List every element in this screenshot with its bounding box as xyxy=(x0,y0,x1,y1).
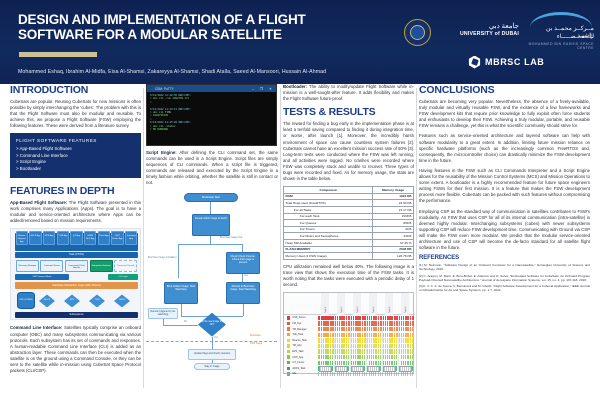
terminal-title-bar[interactable]: CSM: PuTTY – ❐ ✕ xyxy=(147,85,276,92)
chart-trace-block xyxy=(410,349,411,353)
cell-component: Heap Still Available xyxy=(284,239,373,246)
table-row: Total Heap used (FreeRTOS)22.50 KB xyxy=(284,200,414,207)
column-divider-2 xyxy=(280,88,281,388)
chart-trace-block xyxy=(337,355,338,359)
tests-paragraph-1: The reward for finding a bug early in th… xyxy=(283,121,414,182)
tests-results-heading: TESTS & RESULTS xyxy=(283,106,414,118)
flow-connector xyxy=(210,236,211,244)
chart-trace-block xyxy=(357,355,358,359)
chart-trace-block xyxy=(394,349,395,353)
services-row: Telemetry ManagerCommand ParserCommand &… xyxy=(15,260,138,272)
chart-trace-block xyxy=(337,349,338,353)
chart-trace-block xyxy=(394,333,396,337)
chart-trace-block xyxy=(391,349,392,353)
legend-label: Idle xyxy=(292,372,296,375)
cell-memory-usage: 21.17 KB xyxy=(373,207,414,214)
conclusions-heading: CONCLUSIONS xyxy=(419,84,590,96)
chart-trace-block xyxy=(343,338,344,342)
chart-trace-block xyxy=(407,338,408,342)
chart-trace-block xyxy=(378,333,379,337)
chart-trace-block xyxy=(385,349,386,353)
mbrsc-lab-logo: MBRSC LAB xyxy=(468,54,546,70)
chart-trace-block xyxy=(410,327,411,331)
chart-column-label: Task 4 xyxy=(373,307,375,313)
references-section: REFERENCES [1] M. Neimann, "Software Des… xyxy=(419,255,590,292)
tests-paragraph-2: CPU utilization remained well below 40%.… xyxy=(283,264,414,288)
legend-swatch xyxy=(287,339,290,342)
table-row: For all Tasks21.17 KB xyxy=(284,207,414,214)
flow-connector xyxy=(163,325,198,326)
chart-trace-block xyxy=(401,355,402,359)
uod-seal-icon xyxy=(404,19,431,46)
flow-connector xyxy=(242,274,243,282)
arch-service-cell: Command & Data Handler xyxy=(65,260,88,272)
legend-swatch xyxy=(287,344,290,347)
column-script-engine: CSM: PuTTY – ❐ ✕ 5/13/2022 11:20:55 OBC>… xyxy=(146,84,278,400)
chart-trace-block xyxy=(353,349,354,353)
app-based-label: App-Based Flight Software: xyxy=(10,200,67,205)
chart-trace-block xyxy=(375,355,376,359)
cell-component: For Mutex and Semaphores xyxy=(284,233,373,240)
reference-item: [3] K. V. C. K. de Souza, V. Bensimani a… xyxy=(419,284,590,292)
arch-subsystem-node: ADCS xyxy=(39,294,55,307)
flow-label-yes-1: Yes xyxy=(244,275,248,278)
arch-app-cell: Beacon Request App xyxy=(16,231,28,245)
chart-axis-tick-group xyxy=(335,366,348,372)
cell-memory-usage: 440 B xyxy=(373,233,414,240)
arch-service-cell: Command Parser xyxy=(40,260,63,272)
legend-label: FM_Sys xyxy=(292,322,301,325)
column-tests-results: Bootloader: The ability to modify/update… xyxy=(283,84,414,400)
legend-swatch xyxy=(287,333,290,336)
chart-axis-tick-group xyxy=(399,366,412,372)
chart-trace-block xyxy=(378,327,380,331)
chart-trace-block xyxy=(412,333,413,337)
table-row: For each Task2168 B xyxy=(284,213,414,220)
arch-app-cell: Throw App xyxy=(98,231,110,245)
chart-trace-block xyxy=(389,333,391,337)
chart-trace-block xyxy=(341,355,342,359)
legend-label: ADCS_Task xyxy=(292,367,305,370)
chart-trace-block xyxy=(412,349,413,353)
chart-trace-block xyxy=(339,338,340,342)
arch-service-cell: Subsystem Emulator xyxy=(90,260,113,272)
chart-axis-strip xyxy=(318,365,414,373)
poster-header: DESIGN AND IMPLEMENTATION OF A FLIGHT SO… xyxy=(0,0,600,84)
table-row: Heap Still Available97.45 % xyxy=(284,239,414,246)
chart-column-label: Task 5 xyxy=(389,307,391,313)
cell-component: For all Tasks xyxy=(284,207,373,214)
conclusions-paragraph-4: Employing CSP as the standard way of com… xyxy=(419,209,590,252)
chart-trace-block xyxy=(405,321,407,325)
chart-trace-block xyxy=(407,349,408,353)
cli-label: Command Line Interface: xyxy=(10,325,62,330)
university-of-dubai-logo: جامعة دبي UNIVERSITY of DUBAI xyxy=(404,18,520,48)
chart-trace-block xyxy=(401,327,402,331)
cell-component: For Queues xyxy=(284,220,373,227)
chart-trace-block xyxy=(401,349,402,353)
feature-item: > Bootloader xyxy=(16,166,135,172)
arch-service-cell: Telemetry Manager xyxy=(16,260,39,272)
chart-column-label: Task 2 xyxy=(341,307,343,313)
chart-trace-block xyxy=(371,327,373,331)
flow-zone-bootloader-label: Bootloader xyxy=(250,335,261,338)
chart-trace-block xyxy=(341,349,342,353)
chart-trace-block xyxy=(389,349,390,353)
subsystems-bar: Subsystems xyxy=(15,312,138,318)
chart-axis-tick-group xyxy=(319,366,332,372)
page-title: DESIGN AND IMPLEMENTATION OF A FLIGHT SO… xyxy=(18,12,378,42)
cell-component: FLASH MEMORY xyxy=(284,246,373,253)
flow-connector xyxy=(212,337,213,349)
chart-trace-block xyxy=(359,344,361,348)
middleware-row: CSP Protocol Stack CLI Layer xyxy=(15,274,138,280)
bootloader-flowchart: Bootloader Start Decide which image to b… xyxy=(146,191,277,369)
chart-trace-block xyxy=(375,344,376,348)
chart-trace-block xyxy=(341,344,342,348)
chart-trace-block xyxy=(373,327,375,331)
putty-terminal-window[interactable]: CSM: PuTTY – ❐ ✕ 5/13/2022 11:20:55 OBC>… xyxy=(146,84,277,146)
chart-trace-block xyxy=(387,349,388,353)
arch-app-cell: FMT Router App xyxy=(111,231,123,245)
flow-node-check: Check Check Counter, Check that image is… xyxy=(226,252,260,274)
flow-connector xyxy=(181,316,212,317)
legend-swatch xyxy=(287,350,290,353)
script-engine-label: Script Engine: xyxy=(146,150,177,155)
chart-trace-block xyxy=(371,355,372,359)
chart-trace-block xyxy=(385,333,387,337)
script-engine-paragraph: Script Engine: After defining the CLI co… xyxy=(146,150,278,187)
flow-label-no: No xyxy=(184,321,187,324)
introduction-heading: INTRODUCTION xyxy=(10,84,141,96)
cell-component: Memory Used (1 FSW Image) xyxy=(284,253,373,260)
chart-trace-block xyxy=(355,344,357,348)
flow-connector xyxy=(243,304,244,316)
flow-node-update: Update flags and check counters xyxy=(188,349,236,360)
chart-trace-block xyxy=(321,355,322,359)
chart-trace-block xyxy=(343,333,345,337)
chart-trace-block xyxy=(373,355,374,359)
legend-label: EPS_Task xyxy=(292,350,303,353)
chart-trace-block xyxy=(362,355,363,359)
legend-swatch xyxy=(287,361,290,364)
legend-label: CDH_App xyxy=(292,356,303,359)
chart-trace-block xyxy=(405,344,406,348)
chart-trace-block xyxy=(405,338,406,342)
chart-trace-block xyxy=(359,349,360,353)
chart-trace-block xyxy=(389,338,390,342)
chart-trace-block xyxy=(403,321,405,325)
legend-label: CSP_Server xyxy=(292,316,305,319)
hal-layer: Hardware Abstraction Layer (HAL Drivers) xyxy=(15,282,138,289)
title-underline-rule xyxy=(19,52,97,57)
chart-trace-block xyxy=(412,327,413,331)
csp-stack-block: CSP Protocol Stack xyxy=(15,274,69,280)
arch-service-cell: Command Console xyxy=(114,260,137,272)
chart-trace-block xyxy=(346,344,347,348)
table-row: RAM1024 KB xyxy=(284,193,414,200)
chart-trace-block xyxy=(391,333,393,337)
mbrsc-arabic-line2: للـــفـــضـــــاء xyxy=(528,33,594,40)
arch-app-cell: Telemetry App xyxy=(125,231,137,245)
cell-memory-usage: 2168 B xyxy=(373,213,414,220)
chart-axis-tick-group xyxy=(351,366,364,372)
conclusions-paragraph-3: Having features in the FSW such as CLI C… xyxy=(419,168,590,205)
chart-trace-block xyxy=(362,349,363,353)
arch-obc-node: OBC (STM32) xyxy=(17,292,35,309)
legend-label: TM_Manager xyxy=(292,328,306,331)
bootloader-label: Bootloader: xyxy=(283,84,307,89)
column-conclusions: CONCLUSIONS CubeSats are becoming very p… xyxy=(419,84,590,400)
chart-trace-block xyxy=(343,355,344,359)
flow-label-boot-new: Boot New Image (1st) xyxy=(220,237,242,240)
chart-trace-block xyxy=(389,344,390,348)
terminal-title: CSM: PuTTY xyxy=(155,86,174,92)
chart-column-label: Task 3 xyxy=(357,307,359,313)
flow-connector xyxy=(178,244,179,278)
app-based-paragraph: App-Based Flight Software: The Flight So… xyxy=(10,200,141,224)
chart-trace-block xyxy=(339,355,340,359)
cli-layer-block: CLI Layer xyxy=(108,274,138,280)
chart-trace-block xyxy=(371,338,372,342)
legend-label: IoT_Comm xyxy=(292,361,304,364)
chart-trace-block xyxy=(387,355,388,359)
arch-subsystem-node: GNSS xyxy=(114,294,130,307)
chart-trace-block xyxy=(339,344,340,348)
arch-subsystem-node: TTMI xyxy=(89,294,105,307)
legend-swatch xyxy=(287,327,290,330)
chart-trace-block xyxy=(410,355,411,359)
chart-trace-block xyxy=(387,338,388,342)
chart-trace-block xyxy=(346,338,347,342)
chart-trace-block xyxy=(375,327,377,331)
chart-trace-block xyxy=(410,338,411,342)
chart-trace-block xyxy=(369,344,370,348)
chart-trace-block xyxy=(346,355,347,359)
mbrsc-english-name: MOHAMMED BIN RASHID SPACE CENTRE xyxy=(528,42,594,50)
chart-trace-block xyxy=(412,321,414,325)
flow-label-yes-2: Yes xyxy=(214,337,218,340)
chart-trace-block xyxy=(373,344,374,348)
chart-trace-block xyxy=(321,349,323,353)
mbrsc-logo: مــركــز محمــد بن راشــد للـــفـــضــــ… xyxy=(528,10,594,52)
cell-component: For each Task xyxy=(284,213,373,220)
column-introduction: INTRODUCTION CubeSats are popular. Reusi… xyxy=(10,84,141,400)
terminal-output: 5/13/2022 11:20:55 OBC>CSP>> obc cli .ru… xyxy=(147,92,276,133)
chart-trace-block xyxy=(403,333,404,337)
chart-legend: CSP_ServerFM_SysTM_ManagerTLE_TaskBeacon… xyxy=(285,315,318,373)
cell-memory-usage: 22.50 KB xyxy=(373,200,414,207)
chart-column-headers: Task 1Task 2Task 3Task 4Task 5Task 6 xyxy=(284,293,415,315)
chart-trace-block xyxy=(387,344,388,348)
column-header-memory-usage: Memory Usage xyxy=(373,187,414,194)
chart-trace-block xyxy=(373,349,374,353)
chart-trace-block xyxy=(385,355,386,359)
legend-swatch xyxy=(287,367,290,370)
legend-swatch xyxy=(287,322,290,325)
chart-trace-block xyxy=(410,344,411,348)
introduction-paragraph: CubeSats are popular. Reusing CubeSats f… xyxy=(10,99,141,129)
flow-zone-fsw-label: FSW Image xyxy=(250,343,262,346)
chart-trace-block xyxy=(412,316,414,320)
table-header-row: Component Memory Usage xyxy=(284,187,414,194)
chart-trace-block xyxy=(325,355,326,359)
chart-trace-block xyxy=(355,349,356,353)
chart-column-label: Task 6 xyxy=(405,307,407,313)
chart-trace-block xyxy=(401,338,402,342)
tasks-bar: Task (FTOS) xyxy=(15,252,138,258)
chart-trace-block xyxy=(369,349,370,353)
chart-column-label: Task 1 xyxy=(325,307,327,313)
table-row: For Timers40 B xyxy=(284,226,414,233)
chart-trace-block xyxy=(407,333,408,337)
minimize-icon[interactable]: – xyxy=(252,86,254,92)
legend-swatch xyxy=(287,372,290,375)
chart-trace-block xyxy=(318,349,320,353)
cell-memory-usage: 40 B xyxy=(373,226,414,233)
close-icon[interactable]: ✕ xyxy=(269,86,272,92)
chart-trace-block xyxy=(391,344,392,348)
arch-app-cell: ADCS App xyxy=(29,231,41,245)
chart-trace-block xyxy=(323,349,325,353)
chart-trace-block xyxy=(385,338,386,342)
arch-app-cell: GNSS No.1 App xyxy=(84,231,96,245)
flow-node-stay: Stay in image xyxy=(194,363,230,370)
flow-node-decide: Decide which image to boot? xyxy=(192,214,230,236)
cell-component: Total Heap used (FreeRTOS) xyxy=(284,200,373,207)
chart-trace-block xyxy=(385,344,386,348)
uod-english-name: UNIVERSITY of DUBAI xyxy=(435,31,519,38)
chart-trace-block xyxy=(389,355,390,359)
chart-trace-block xyxy=(375,333,376,337)
chart-trace-block xyxy=(371,349,372,353)
chart-trace-block xyxy=(325,349,327,353)
chart-trace-block xyxy=(407,344,408,348)
cell-memory-usage: 97.45 % xyxy=(373,239,414,246)
chart-trace-block xyxy=(369,333,370,337)
cell-component: RAM xyxy=(284,193,373,200)
flow-node-boot-golden: Boot Golden Image, Start Watchdog xyxy=(164,282,198,304)
chart-trace-block xyxy=(327,355,328,359)
flow-label-boot-golden: Boot New Image 2 (Golden) xyxy=(148,257,180,260)
chart-trace-block xyxy=(359,355,360,359)
chart-trace-block xyxy=(373,338,374,342)
chart-trace-block xyxy=(327,349,329,353)
flow-connector xyxy=(181,304,182,316)
legend-swatch xyxy=(287,355,290,358)
chart-trace-block xyxy=(341,338,342,342)
cell-component: For Timers xyxy=(284,226,373,233)
poster-root: DESIGN AND IMPLEMENTATION OF A FLIGHT SO… xyxy=(0,0,600,400)
chart-trace-block xyxy=(371,333,372,337)
flight-software-features-box: FLIGHT SOFTWARE FEATURES > App-Based Fli… xyxy=(10,133,141,178)
chart-trace-block xyxy=(375,338,376,342)
cli-text: Satellites typically comprise an onboard… xyxy=(10,325,141,373)
reference-item: [1] M. Neimann, "Software Design of an O… xyxy=(419,263,590,271)
flow-node-reboot-note: Reboot (triggered by the watchdog) xyxy=(148,308,178,319)
legend-label: TLE_Task xyxy=(292,333,303,336)
flow-connector xyxy=(212,316,243,317)
flow-connector xyxy=(178,244,242,245)
chart-trace-block xyxy=(378,344,379,348)
chart-trace-block xyxy=(337,333,339,337)
architecture-diagram: Beacon Request AppADCS AppEPS AppTTMI Ap… xyxy=(10,228,141,320)
flow-connector xyxy=(242,244,243,252)
chart-trace-block xyxy=(405,333,406,337)
chart-trace-block xyxy=(378,349,379,353)
script-engine-text: After defining the CLI command set, the … xyxy=(146,150,278,185)
chart-trace-block xyxy=(373,333,374,337)
flow-node-boot-new: Attempt to Boot New Image, Start Watchdo… xyxy=(226,282,260,304)
chart-trace-block xyxy=(353,355,354,359)
mbrsc-lab-label: MBRSC LAB xyxy=(485,57,544,67)
chart-trace-block xyxy=(405,349,406,353)
chart-trace-block xyxy=(343,349,344,353)
chart-trace-block xyxy=(401,321,403,325)
table-row: For Queues868 B xyxy=(284,220,414,227)
chart-trace-block xyxy=(403,327,404,331)
chart-trace-block xyxy=(407,327,408,331)
table-row: Memory Used (1 FSW Image)126.76 KB xyxy=(284,253,414,260)
cell-memory-usage: 2048 KB xyxy=(373,246,414,253)
chart-trace-block xyxy=(341,333,343,337)
chart-trace-block xyxy=(391,338,392,342)
chart-trace-block xyxy=(378,338,379,342)
terminal-line: > OK RUNNING xyxy=(150,128,273,131)
chart-trace-block xyxy=(337,338,338,342)
cpu-utilization-chart: Task 1Task 2Task 3Task 4Task 5Task 6 CSP… xyxy=(283,292,414,374)
chart-trace-block xyxy=(403,344,404,348)
chart-trace-block xyxy=(410,321,412,325)
chart-trace-block xyxy=(318,355,319,359)
conclusions-paragraph-1: CubeSats are becoming very popular. Neve… xyxy=(419,99,590,129)
table-row: FLASH MEMORY2048 KB xyxy=(284,246,414,253)
chart-trace-block xyxy=(369,355,370,359)
chart-trace-block xyxy=(330,349,332,353)
chart-trace-block xyxy=(391,355,392,359)
chart-trace-block xyxy=(323,355,324,359)
chart-trace-block xyxy=(337,344,338,348)
chart-axis-tick-group xyxy=(383,366,396,372)
arch-app-cell: EPS App xyxy=(43,231,55,245)
author-list: Mohammed Eshaq, Ibrahim Al-Midfa, Eisa A… xyxy=(18,69,438,76)
chart-trace-block xyxy=(410,333,411,337)
cell-memory-usage: 1024 KB xyxy=(373,193,414,200)
legend-swatch xyxy=(287,316,290,319)
chart-trace-block xyxy=(371,344,372,348)
cell-memory-usage: 126.76 KB xyxy=(373,253,414,260)
chart-trace-block xyxy=(330,355,331,359)
bootloader-paragraph: Bootloader: The ability to modify/update… xyxy=(283,84,414,102)
chart-trace-block xyxy=(357,344,359,348)
chart-trace-block xyxy=(403,338,404,342)
chart-trace-block xyxy=(369,327,371,331)
reference-item: [2] C. Aragon, M. Marti, E. Bros-Bobst, … xyxy=(419,274,590,282)
chart-trace-block xyxy=(369,338,370,342)
legend-label: TM_App xyxy=(292,344,301,347)
chart-trace-block xyxy=(394,338,395,342)
legend-label: Beacon_Task xyxy=(292,339,306,342)
maximize-icon[interactable]: ❐ xyxy=(260,86,263,92)
chart-trace-block xyxy=(353,344,355,348)
chart-trace-block xyxy=(387,333,389,337)
chart-trace-block xyxy=(378,355,379,359)
features-in-depth-heading: FEATURES IN DEPTH xyxy=(10,185,141,197)
chart-trace-block xyxy=(339,333,341,337)
chart-trace-block xyxy=(412,355,413,359)
memory-usage-table: Component Memory Usage RAM1024 KBTotal H… xyxy=(283,186,414,260)
table-row: For Mutex and Semaphores440 B xyxy=(284,233,414,240)
